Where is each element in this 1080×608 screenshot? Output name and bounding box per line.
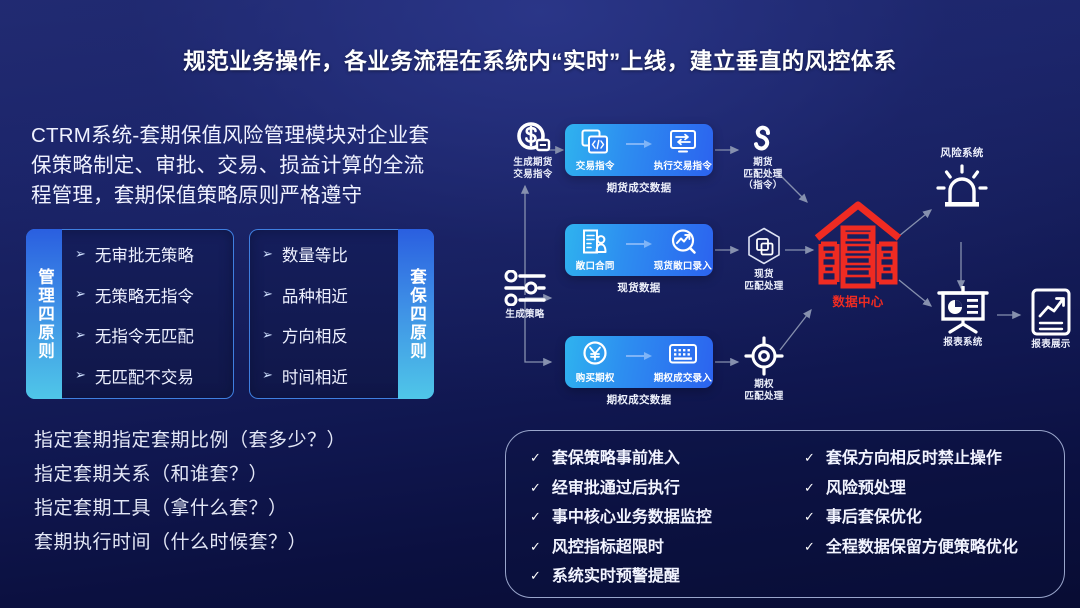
chevron-right-icon: ➢ xyxy=(262,287,273,302)
node-gen-futures-order: 生成期货 交易指令 xyxy=(497,122,569,180)
keyboard-icon xyxy=(668,341,698,367)
dollar-coin-icon xyxy=(515,122,551,154)
chevron-right-icon: ➢ xyxy=(262,247,273,262)
card-option-trade-data: 购买期权 期权成交录入 xyxy=(565,336,713,388)
chevron-right-icon: ➢ xyxy=(75,287,86,302)
principle-item: ➢ 无指令无匹配 xyxy=(75,323,227,347)
checklist-item: ✓ 事后套保优化 xyxy=(804,503,1018,533)
sync-swirl-icon xyxy=(746,124,780,154)
chevron-right-icon: ➢ xyxy=(262,368,273,383)
principle-label: 方向相反 xyxy=(282,323,348,347)
node-report-system: 报表系统 xyxy=(930,286,996,349)
principle-item: ➢ 无匹配不交易 xyxy=(75,364,227,388)
principle-item: ➢ 无审批无策略 xyxy=(75,242,227,266)
node-risk-system: 风险系统 xyxy=(927,148,997,212)
alarm-siren-icon xyxy=(935,164,989,212)
card-cell: 现货敞口录入 xyxy=(653,229,713,272)
questions-list: 指定套期指定套期比例（套多少？） 指定套期关系（和谁套？） 指定套期工具（拿什么… xyxy=(34,424,434,560)
node-label: 期权 匹配处理 xyxy=(744,379,783,402)
card-cell-label: 执行交易指令 xyxy=(654,158,712,172)
question-line: 指定套期关系（和谁套？） xyxy=(34,458,434,492)
slide-root: 规范业务操作，各业务流程在系统内“实时”上线，建立垂直的风控体系 CTRM系统-… xyxy=(0,0,1080,608)
arrow-right-icon xyxy=(626,239,651,249)
node-data-center: 数据中心 xyxy=(810,200,906,309)
card-caption: 期货成交数据 xyxy=(565,180,713,195)
page-title: 规范业务操作，各业务流程在系统内“实时”上线，建立垂直的风控体系 xyxy=(0,44,1080,76)
node-label: 报表展示 xyxy=(1031,339,1070,351)
card-spot-data: 敞口合同 现货敞口录入 xyxy=(565,224,713,276)
data-center-icon xyxy=(811,200,905,292)
principles-list-management: ➢ 无审批无策略 ➢ 无策略无指令 ➢ 无指令无匹配 ➢ 无匹配不交易 xyxy=(75,234,227,396)
contract-person-icon xyxy=(581,229,609,255)
principle-item: ➢ 时间相近 xyxy=(262,364,391,388)
checklist-label: 风控指标超限时 xyxy=(552,533,664,563)
node-label: 生成策略 xyxy=(505,309,544,321)
question-line: 指定套期工具（拿什么套？） xyxy=(34,492,434,526)
chevron-right-icon: ➢ xyxy=(75,368,86,383)
principle-label: 无策略无指令 xyxy=(95,283,194,307)
checklist-item: ✓ 风控指标超限时 xyxy=(530,533,712,563)
principles-box-management: 管理四原则 ➢ 无审批无策略 ➢ 无策略无指令 ➢ 无指令无匹配 ➢ 无匹配不交… xyxy=(26,229,234,399)
yuan-coin-icon xyxy=(581,341,609,367)
checklist-column-left: ✓ 套保策略事前准入 ✓ 经审批通过后执行 ✓ 事中核心业务数据监控 ✓ 风控指… xyxy=(530,444,712,592)
chevron-right-icon: ➢ xyxy=(262,328,273,343)
node-label: 期货 匹配处理 （指令） xyxy=(743,157,782,192)
principle-item: ➢ 无策略无指令 xyxy=(75,283,227,307)
principle-label: 数量等比 xyxy=(282,242,348,266)
card-futures-trade-data: 交易指令 执行交易指令 xyxy=(565,124,713,176)
checklist-label: 事后套保优化 xyxy=(826,503,922,533)
card-cell-label: 现货敞口录入 xyxy=(654,258,712,272)
checklist-label: 事中核心业务数据监控 xyxy=(552,503,712,533)
target-crosshair-icon xyxy=(744,336,784,376)
checklist-label: 经审批通过后执行 xyxy=(552,474,680,504)
node-option-match: 期权 匹配处理 xyxy=(733,336,795,402)
chevron-right-icon: ➢ xyxy=(75,328,86,343)
checklist-item: ✓ 风险预处理 xyxy=(804,474,1018,504)
card-cell: 敞口合同 xyxy=(565,229,625,272)
code-window-icon xyxy=(581,129,609,155)
checklist-column-right: ✓ 套保方向相反时禁止操作 ✓ 风险预处理 ✓ 事后套保优化 ✓ 全程数据保留方… xyxy=(804,444,1018,562)
check-icon: ✓ xyxy=(804,474,815,504)
card-cell: 期权成交录入 xyxy=(653,341,713,384)
card-cell: 购买期权 xyxy=(565,341,625,384)
node-label: 数据中心 xyxy=(832,295,883,309)
card-cell: 交易指令 xyxy=(565,129,625,172)
checklist-label: 系统实时预警提醒 xyxy=(552,562,680,592)
card-cell-label: 期权成交录入 xyxy=(654,370,712,384)
principle-item: ➢ 数量等比 xyxy=(262,242,391,266)
node-label: 风险系统 xyxy=(940,148,983,160)
hexagon-layers-icon xyxy=(744,226,784,266)
check-icon: ✓ xyxy=(804,533,815,563)
check-icon: ✓ xyxy=(530,474,541,504)
node-futures-match: 期货 匹配处理 （指令） xyxy=(727,124,799,192)
lead-paragraph: CTRM系统-套期保值风险管理模块对企业套保策略制定、审批、交易、损益计算的全流… xyxy=(31,121,431,211)
check-icon: ✓ xyxy=(804,503,815,533)
card-caption: 期权成交数据 xyxy=(565,392,713,407)
check-icon: ✓ xyxy=(530,444,541,474)
checklist-item: ✓ 经审批通过后执行 xyxy=(530,474,712,504)
question-line: 指定套期指定套期比例（套多少？） xyxy=(34,424,434,458)
principle-label: 品种相近 xyxy=(282,283,348,307)
trend-search-icon xyxy=(669,229,697,255)
principles-box-hedging: 套保四原则 ➢ 数量等比 ➢ 品种相近 ➢ 方向相反 ➢ 时间相近 xyxy=(249,229,434,399)
checklist-item: ✓ 全程数据保留方便策略优化 xyxy=(804,533,1018,563)
node-spot-match: 现货 匹配处理 xyxy=(733,226,795,292)
arrow-right-icon xyxy=(626,139,651,149)
chevron-right-icon: ➢ xyxy=(75,247,86,262)
check-icon: ✓ xyxy=(530,533,541,563)
check-icon: ✓ xyxy=(530,562,541,592)
check-icon: ✓ xyxy=(804,444,815,474)
node-gen-strategy: 生成策略 xyxy=(487,270,563,321)
principle-item: ➢ 品种相近 xyxy=(262,283,391,307)
exchange-window-icon xyxy=(669,129,697,155)
principles-tab-management: 管理四原则 xyxy=(26,229,62,399)
checklist-item: ✓ 系统实时预警提醒 xyxy=(530,562,712,592)
question-line: 套期执行时间（什么时候套？） xyxy=(34,526,434,560)
node-label: 报表系统 xyxy=(943,337,982,349)
principle-label: 无指令无匹配 xyxy=(95,323,194,347)
checklist-label: 套保策略事前准入 xyxy=(552,444,680,474)
arrow-right-icon xyxy=(626,351,651,361)
principle-item: ➢ 方向相反 xyxy=(262,323,391,347)
sliders-settings-icon xyxy=(502,270,548,306)
node-label: 生成期货 交易指令 xyxy=(513,157,552,180)
card-cell: 执行交易指令 xyxy=(653,129,713,172)
checklist-label: 全程数据保留方便策略优化 xyxy=(826,533,1018,563)
card-cell-label: 交易指令 xyxy=(576,158,615,172)
process-flow-diagram: 生成期货 交易指令 生成策略 交易指令 xyxy=(455,110,1080,420)
principle-label: 无审批无策略 xyxy=(95,242,194,266)
report-document-icon xyxy=(1029,288,1073,336)
checklist-item: ✓ 套保策略事前准入 xyxy=(530,444,712,474)
checklist-item: ✓ 套保方向相反时禁止操作 xyxy=(804,444,1018,474)
checklist-label: 风险预处理 xyxy=(826,474,906,504)
card-cell-label: 购买期权 xyxy=(576,370,615,384)
principles-tab-hedging: 套保四原则 xyxy=(398,229,434,399)
check-icon: ✓ xyxy=(530,503,541,533)
presentation-chart-icon xyxy=(937,286,989,334)
checklist-label: 套保方向相反时禁止操作 xyxy=(826,444,1002,474)
node-label: 现货 匹配处理 xyxy=(744,269,783,292)
node-report-display: 报表展示 xyxy=(1021,288,1080,351)
principles-list-hedging: ➢ 数量等比 ➢ 品种相近 ➢ 方向相反 ➢ 时间相近 xyxy=(262,234,391,396)
principle-label: 时间相近 xyxy=(282,364,348,388)
checklist-item: ✓ 事中核心业务数据监控 xyxy=(530,503,712,533)
checklist-panel: ✓ 套保策略事前准入 ✓ 经审批通过后执行 ✓ 事中核心业务数据监控 ✓ 风控指… xyxy=(505,430,1065,598)
principle-label: 无匹配不交易 xyxy=(95,364,194,388)
card-caption: 现货数据 xyxy=(565,280,713,295)
card-cell-label: 敞口合同 xyxy=(576,258,615,272)
